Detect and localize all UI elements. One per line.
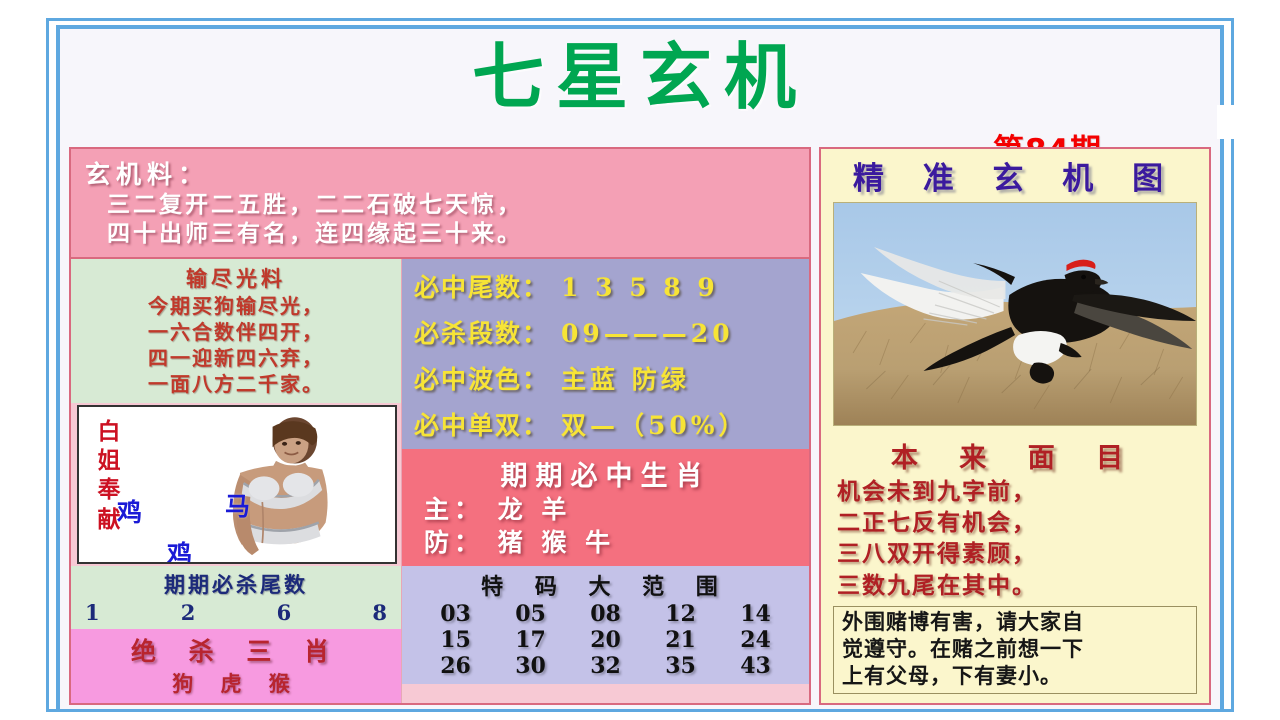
gold-row-odd-even: 必中单双： 双—（50%） [402,401,809,447]
gold-label: 必中波色： [414,360,549,396]
kill-three-title: 绝 杀 三 肖 [71,632,401,668]
photo-overlay-zodiac-3: 鸡 [167,535,192,565]
photo-overlay-zodiac-1: 鸡 [117,493,142,529]
number-grid-row: 26 30 32 35 43 [402,653,809,679]
shujinguang-panel: 输尽光料 今期买狗输尽光， 一六合数伴四开， 四一迎新四六弃， 一面八方二千家。 [71,259,401,403]
number-cell: 30 [515,653,546,679]
shujinguang-line-2: 一六合数伴四开， [75,319,397,345]
gold-value: 09———20 [561,319,734,348]
page-title: 七星玄机 [60,41,1220,113]
right-verse-line-4: 三数九尾在其中。 [821,569,1209,600]
shujinguang-line-4: 一面八方二千家。 [75,371,397,397]
number-cell: 05 [515,601,546,627]
number-grid-title: 特 码 大 范 围 [402,569,809,601]
number-cell: 03 [440,601,471,627]
kill-tail-number: 1 [85,600,100,625]
kill-three-panel: 绝 杀 三 肖 狗 虎 猴 [71,629,401,703]
kill-tail-number: 8 [372,600,387,625]
disclaimer-box: 外围赌博有害，请大家自 觉遵守。在赌之前想一下 上有父母，下有妻小。 [833,606,1197,695]
gold-value: 1 3 5 8 9 [561,273,719,302]
photo-image [171,413,381,559]
number-cell: 35 [665,653,696,679]
number-cell: 32 [590,653,621,679]
shujinguang-line-3: 四一迎新四六弃， [75,345,397,371]
disclaimer-line-3: 上有父母，下有妻小。 [842,663,1190,690]
number-cell: 21 [665,627,696,653]
number-grid-row: 03 05 08 12 14 [402,601,809,627]
poster-header: 七星玄机 第84期 [60,29,1220,147]
kill-tail-number: 6 [277,600,292,625]
kill-three-animals: 狗 虎 猴 [71,668,401,698]
gold-label: 必杀段数： [414,314,549,350]
number-cell: 20 [590,627,621,653]
bird-photo-box [833,202,1197,426]
zodiac-panel: 期期必中生肖 主： 龙 羊 防： 猪 猴 牛 [402,449,809,567]
right-verse-line-3: 三八双开得素顾， [821,537,1209,568]
right-verse-line-2: 二正七反有机会， [821,506,1209,537]
poster-inner-frame: 七星玄机 第84期 玄机料： 三二复开二五胜，二二石破七天惊， 四十出师三有名，… [56,25,1224,709]
kill-tail-numbers: 1 2 6 8 [71,599,401,625]
xuanji-line-2: 四十出师三有名，连四缘起三十来。 [85,220,799,249]
right-column-title: 精 准 玄 机 图 [821,149,1209,200]
number-grid-panel: 特 码 大 范 围 03 05 08 12 14 15 17 [402,566,809,684]
right-verse-line-1: 机会未到九字前， [821,475,1209,506]
kill-tail-title: 期期必杀尾数 [71,569,401,599]
gold-label: 必中尾数： [414,268,549,304]
number-cell: 08 [590,601,621,627]
number-cell: 26 [440,653,471,679]
shujinguang-line-1: 今期买狗输尽光， [75,293,397,319]
shujinguang-title: 输尽光料 [75,263,397,293]
black-grouse-photo [834,203,1196,425]
right-column-subtitle: 本 来 面 目 [821,426,1209,475]
gold-value: 双—（50%） [561,406,748,442]
number-cell: 12 [665,601,696,627]
photo-overlay-zodiac-2: 马 [225,487,250,523]
left-column: 玄机料： 三二复开二五胜，二二石破七天惊， 四十出师三有名，连四缘起三十来。 输… [69,147,811,705]
zodiac-main-row: 主： 龙 羊 [402,493,809,527]
disclaimer-line-2: 觉遵守。在赌之前想一下 [842,636,1190,663]
woman-photo-illustration [171,413,381,559]
number-grid-row: 15 17 20 21 24 [402,627,809,653]
xuanji-verse-header: 玄机料： 三二复开二五胜，二二石破七天惊， 四十出师三有名，连四缘起三十来。 [71,149,809,259]
number-cell: 15 [440,627,471,653]
left-inner-column: 输尽光料 今期买狗输尽光， 一六合数伴四开， 四一迎新四六弃， 一面八方二千家。… [71,259,401,704]
gold-label: 必中单双： [414,406,549,442]
number-cell: 24 [740,627,771,653]
number-cell: 14 [740,601,771,627]
gold-value: 主蓝 防绿 [561,360,690,396]
gold-row-tail-numbers: 必中尾数： 1 3 5 8 9 [402,263,809,309]
xuanji-title: 玄机料： [85,155,799,191]
number-cell: 17 [515,627,546,653]
disclaimer-line-1: 外围赌博有害，请大家自 [842,609,1190,636]
poster-body: 玄机料： 三二复开二五胜，二二石破七天惊， 四十出师三有名，连四缘起三十来。 输… [60,147,1220,709]
left-right-inner-column: 必中尾数： 1 3 5 8 9 必杀段数： 09———20 必中波色： 主蓝 防… [401,259,809,704]
kill-tail-number: 2 [181,600,196,625]
frame-notch [1217,105,1237,139]
photo-panel: 白姐奉献 [77,405,397,565]
gold-predictions-panel: 必中尾数： 1 3 5 8 9 必杀段数： 09———20 必中波色： 主蓝 防… [402,259,809,449]
left-mid-row: 输尽光料 今期买狗输尽光， 一六合数伴四开， 四一迎新四六弃， 一面八方二千家。… [71,259,809,704]
kill-tail-panel: 期期必杀尾数 1 2 6 8 [71,566,401,629]
xuanji-line-1: 三二复开二五胜，二二石破七天惊， [85,191,799,220]
gold-row-wave-color: 必中波色： 主蓝 防绿 [402,355,809,401]
gold-row-kill-range: 必杀段数： 09———20 [402,309,809,355]
poster-frame: 七星玄机 第84期 玄机料： 三二复开二五胜，二二石破七天惊， 四十出师三有名，… [46,18,1234,712]
zodiac-title: 期期必中生肖 [402,454,809,493]
number-cell: 43 [740,653,771,679]
right-column: 精 准 玄 机 图 [819,147,1211,705]
zodiac-defend-row: 防： 猪 猴 牛 [402,526,809,560]
